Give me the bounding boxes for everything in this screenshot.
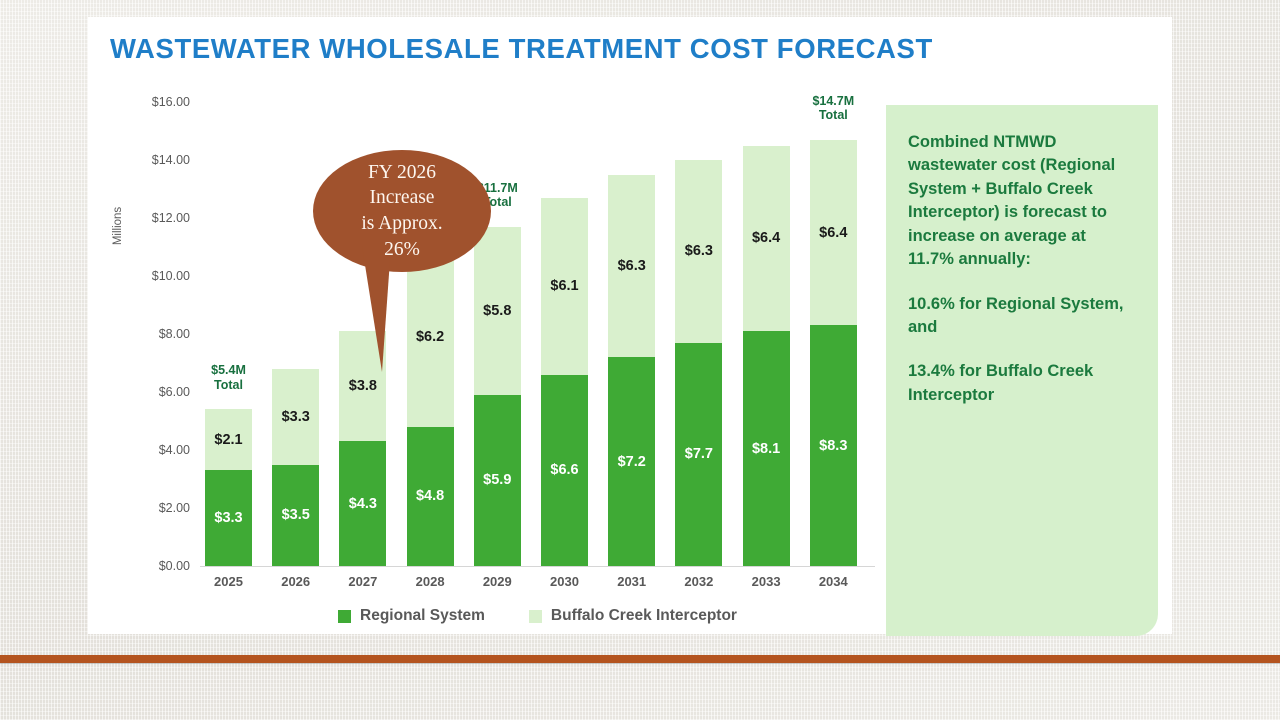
bar-value-label: $6.3	[685, 243, 713, 259]
bar-value-label: $6.4	[819, 225, 847, 241]
bar-value-label: $2.1	[214, 432, 242, 448]
callout-oval: FY 2026 Increase is Approx. 26%	[313, 150, 491, 272]
legend-item[interactable]: Buffalo Creek Interceptor	[529, 607, 737, 625]
x-axis-tick: 2029	[474, 574, 521, 589]
x-axis-tick: 2025	[205, 574, 252, 589]
y-axis-tick: $14.00	[116, 153, 190, 167]
x-axis-tick: 2030	[541, 574, 588, 589]
y-axis-tick: $16.00	[116, 95, 190, 109]
total-annotation: $14.7MTotal	[787, 94, 879, 124]
legend-label: Regional System	[360, 607, 485, 625]
bar-value-label: $5.9	[483, 472, 511, 488]
total-annotation-value: $5.4M	[183, 363, 275, 378]
bar-group[interactable]: $6.6$6.1	[541, 198, 588, 566]
y-axis-tick: $12.00	[116, 211, 190, 225]
bar-value-label: $4.3	[349, 496, 377, 512]
bar-segment-buffalo-creek-interceptor[interactable]: $6.4	[810, 140, 857, 326]
bar-segment-regional-system[interactable]: $8.1	[743, 331, 790, 566]
bar-value-label: $6.3	[618, 258, 646, 274]
summary-paragraph: Combined NTMWD wastewater cost (Regional…	[908, 131, 1134, 272]
y-axis-tick: $10.00	[116, 269, 190, 283]
bar-group[interactable]: $8.1$6.4	[743, 146, 790, 567]
bar-group[interactable]: $7.7$6.3	[675, 160, 722, 566]
bar-segment-regional-system[interactable]: $8.3	[810, 325, 857, 566]
bar-group[interactable]: $3.3$2.1	[205, 409, 252, 566]
bar-group[interactable]: $3.5$3.3	[272, 369, 319, 566]
x-axis-tick: 2031	[608, 574, 655, 589]
bottom-accent-rule	[0, 655, 1280, 663]
bar-value-label: $6.4	[752, 230, 780, 246]
bar-value-label: $8.1	[752, 441, 780, 457]
callout-bubble: FY 2026 Increase is Approx. 26%	[313, 150, 491, 272]
callout-text: FY 2026 Increase is Approx. 26%	[351, 160, 452, 263]
bar-value-label: $5.8	[483, 303, 511, 319]
bar-group[interactable]: $4.8$6.2	[407, 247, 454, 566]
bar-segment-regional-system[interactable]: $4.3	[339, 441, 386, 566]
bar-value-label: $6.6	[550, 462, 578, 478]
y-axis-title: Millions	[112, 186, 124, 266]
x-axis-tick: 2034	[810, 574, 857, 589]
bar-segment-buffalo-creek-interceptor[interactable]: $3.3	[272, 369, 319, 465]
bar-segment-regional-system[interactable]: $7.2	[608, 357, 655, 566]
bar-value-label: $7.7	[685, 446, 713, 462]
x-axis-tick: 2026	[272, 574, 319, 589]
x-axis-line	[200, 566, 875, 567]
summary-paragraph: 10.6% for Regional System, and	[908, 293, 1134, 340]
bar-group[interactable]: $8.3$6.4	[810, 140, 857, 566]
bar-segment-buffalo-creek-interceptor[interactable]: $2.1	[205, 409, 252, 470]
slide-content-card: WASTEWATER WHOLESALE TREATMENT COST FORE…	[88, 17, 1172, 634]
chart-legend: Regional SystemBuffalo Creek Interceptor	[200, 607, 875, 625]
page-title: WASTEWATER WHOLESALE TREATMENT COST FORE…	[110, 33, 933, 65]
total-annotation-caption: Total	[183, 378, 275, 393]
callout-tail	[362, 246, 391, 372]
bar-group[interactable]: $5.9$5.8	[474, 227, 521, 566]
bar-segment-buffalo-creek-interceptor[interactable]: $6.2	[407, 247, 454, 427]
bar-value-label: $3.8	[349, 378, 377, 394]
x-axis-tick: 2032	[675, 574, 722, 589]
bar-segment-regional-system[interactable]: $6.6	[541, 375, 588, 566]
legend-swatch-icon	[529, 610, 542, 623]
plot-area: $3.3$2.1$3.5$3.3$4.3$3.8$4.8$6.2$5.9$5.8…	[200, 102, 875, 582]
total-annotation-caption: Total	[787, 108, 879, 123]
summary-paragraph: 13.4% for Buffalo Creek Interceptor	[908, 360, 1134, 407]
bar-segment-regional-system[interactable]: $7.7	[675, 343, 722, 566]
bar-value-label: $7.2	[618, 454, 646, 470]
summary-panel: Combined NTMWD wastewater cost (Regional…	[886, 105, 1158, 636]
bar-segment-regional-system[interactable]: $4.8	[407, 427, 454, 566]
y-axis-tick: $0.00	[116, 559, 190, 573]
bar-segment-buffalo-creek-interceptor[interactable]: $6.3	[675, 160, 722, 343]
legend-label: Buffalo Creek Interceptor	[551, 607, 737, 625]
bar-value-label: $4.8	[416, 488, 444, 504]
legend-swatch-icon	[338, 610, 351, 623]
total-annotation: $5.4MTotal	[183, 363, 275, 393]
bar-value-label: $8.3	[819, 438, 847, 454]
bar-value-label: $3.5	[282, 507, 310, 523]
y-axis-tick: $2.00	[116, 501, 190, 515]
bar-group[interactable]: $7.2$6.3	[608, 175, 655, 567]
bar-segment-regional-system[interactable]: $5.9	[474, 395, 521, 566]
x-axis-tick: 2027	[339, 574, 386, 589]
bar-segment-regional-system[interactable]: $3.3	[205, 470, 252, 566]
bar-segment-buffalo-creek-interceptor[interactable]: $6.4	[743, 146, 790, 332]
bar-segment-regional-system[interactable]: $3.5	[272, 465, 319, 567]
bar-value-label: $3.3	[282, 409, 310, 425]
x-axis-tick: 2033	[743, 574, 790, 589]
bar-value-label: $3.3	[214, 510, 242, 526]
y-axis-tick: $8.00	[116, 327, 190, 341]
x-axis-tick: 2028	[407, 574, 454, 589]
bar-segment-buffalo-creek-interceptor[interactable]: $6.1	[541, 198, 588, 375]
y-axis-tick: $6.00	[116, 385, 190, 399]
bar-segment-buffalo-creek-interceptor[interactable]: $6.3	[608, 175, 655, 358]
bar-value-label: $6.2	[416, 329, 444, 345]
y-axis-tick: $4.00	[116, 443, 190, 457]
legend-item[interactable]: Regional System	[338, 607, 485, 625]
bar-value-label: $6.1	[550, 278, 578, 294]
total-annotation-value: $14.7M	[787, 94, 879, 109]
